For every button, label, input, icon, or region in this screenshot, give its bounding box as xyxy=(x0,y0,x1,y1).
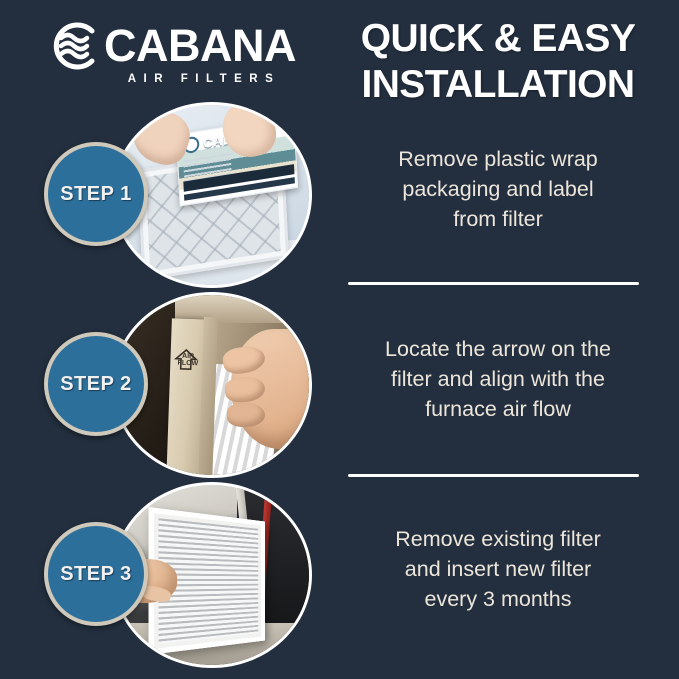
step-row-1: CABANA STEP 1 Remove plastic wrap packag… xyxy=(0,100,679,290)
step-caption-3-line-1: Remove existing filter xyxy=(345,524,651,554)
logo-wordmark: CABANA xyxy=(104,20,296,72)
step-row-3: STEP 3 Remove existing filter and insert… xyxy=(0,480,679,670)
logo-tagline: AIR FILTERS xyxy=(48,73,308,85)
step-caption-1-line-2: packaging and label xyxy=(345,174,651,204)
page-title: QUICK & EASY INSTALLATION xyxy=(348,16,648,108)
step-row-2: AIR FLOW STEP 2 Locate the arrow on the … xyxy=(0,290,679,480)
step-badge-3-label: STEP 3 xyxy=(60,563,132,586)
step-badge-1-label: STEP 1 xyxy=(60,183,132,206)
step-caption-3: Remove existing filter and insert new fi… xyxy=(345,524,651,614)
divider-1 xyxy=(348,282,639,285)
step-caption-3-line-2: and insert new filter xyxy=(345,554,651,584)
step-caption-1-line-3: from filter xyxy=(345,204,651,234)
step-caption-2-line-3: furnace air flow xyxy=(345,394,651,424)
divider-2 xyxy=(348,474,639,477)
step-caption-2-line-1: Locate the arrow on the xyxy=(345,334,651,364)
page-title-line-1: QUICK & EASY xyxy=(348,16,648,62)
step-caption-1: Remove plastic wrap packaging and label … xyxy=(345,144,651,234)
brand-logo: CABANA AIR FILTERS xyxy=(48,20,308,90)
step-caption-2-line-2: filter and align with the xyxy=(345,364,651,394)
step-caption-1-line-1: Remove plastic wrap xyxy=(345,144,651,174)
step-badge-2: STEP 2 xyxy=(44,332,148,436)
step-badge-1: STEP 1 xyxy=(44,142,148,246)
step-caption-2: Locate the arrow on the filter and align… xyxy=(345,334,651,424)
installation-infographic: CABANA AIR FILTERS QUICK & EASY INSTALLA… xyxy=(0,0,679,679)
logo-row: CABANA xyxy=(48,20,308,72)
step-badge-3: STEP 3 xyxy=(44,522,148,626)
cabana-wave-circle-logo-icon xyxy=(48,19,102,73)
step-caption-3-line-3: every 3 months xyxy=(345,584,651,614)
air-flow-arrow-label: AIR FLOW xyxy=(177,353,199,368)
step-badge-2-label: STEP 2 xyxy=(60,373,132,396)
